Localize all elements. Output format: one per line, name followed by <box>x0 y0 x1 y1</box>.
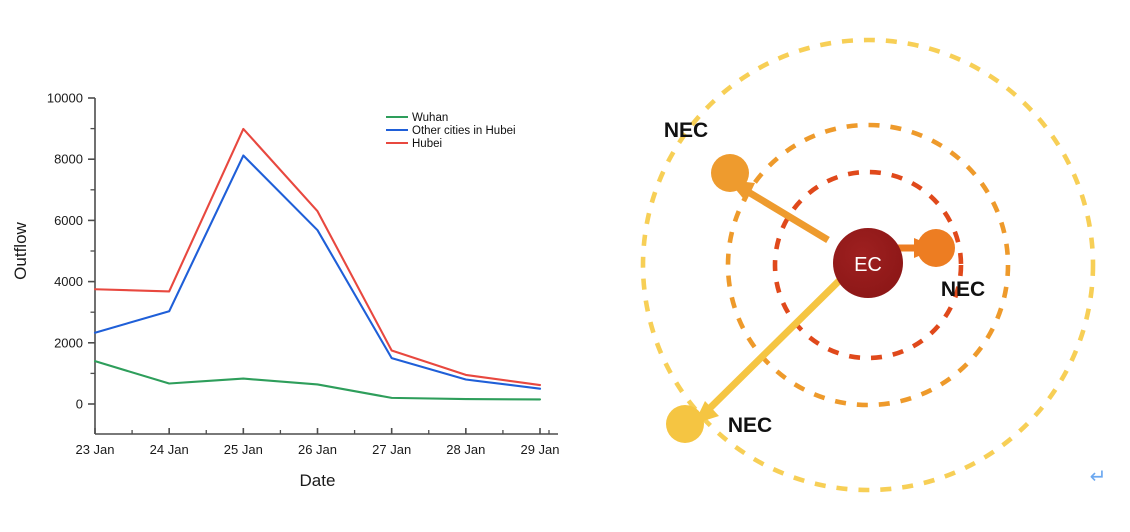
x-tick-label: 24 Jan <box>150 442 189 457</box>
screenshot-root: 020004000600080001000023 Jan24 Jan25 Jan… <box>0 0 1130 532</box>
y-tick-label: 2000 <box>54 335 83 350</box>
ec-center-node-label: EC <box>854 254 882 276</box>
x-tick-label: 28 Jan <box>446 442 485 457</box>
x-tick-label: 23 Jan <box>75 442 114 457</box>
x-axis-title: Date <box>300 471 336 490</box>
nec-node-right[interactable] <box>917 229 955 267</box>
y-tick-label: 8000 <box>54 152 83 167</box>
x-tick-label: 27 Jan <box>372 442 411 457</box>
legend-label-1: Other cities in Hubei <box>412 125 516 137</box>
x-tick-label: 29 Jan <box>520 442 559 457</box>
series-line-hubei <box>95 129 540 385</box>
series-line-other-cities-in-hubei <box>95 156 540 389</box>
y-axis-title: Outflow <box>11 221 30 279</box>
ec-nec-radial-diagram-svg: NEC NEC NEC EC ↵ <box>600 0 1130 532</box>
y-tick-label: 6000 <box>54 213 83 228</box>
legend-label-0: Wuhan <box>412 112 448 124</box>
nec-node-right-label: NEC <box>941 278 985 301</box>
outflow-line-chart-panel: 020004000600080001000023 Jan24 Jan25 Jan… <box>0 0 600 532</box>
nec-node-upper-left[interactable] <box>711 154 749 192</box>
arrow-ec-to-nec-lower-left <box>694 272 848 424</box>
return-mark-icon: ↵ <box>1090 466 1107 488</box>
ec-nec-radial-diagram-panel: NEC NEC NEC EC ↵ <box>600 0 1130 532</box>
y-tick-label: 4000 <box>54 274 83 289</box>
nec-node-lower-left[interactable] <box>666 405 704 443</box>
y-tick-label: 0 <box>76 397 83 412</box>
y-tick-label: 10000 <box>47 91 83 106</box>
x-tick-label: 26 Jan <box>298 442 337 457</box>
nec-node-lower-left-label: NEC <box>728 414 772 437</box>
nec-node-upper-left-label: NEC <box>664 119 708 142</box>
x-tick-label: 25 Jan <box>224 442 263 457</box>
outflow-line-chart-svg: 020004000600080001000023 Jan24 Jan25 Jan… <box>0 0 600 532</box>
legend-label-2: Hubei <box>412 138 442 150</box>
